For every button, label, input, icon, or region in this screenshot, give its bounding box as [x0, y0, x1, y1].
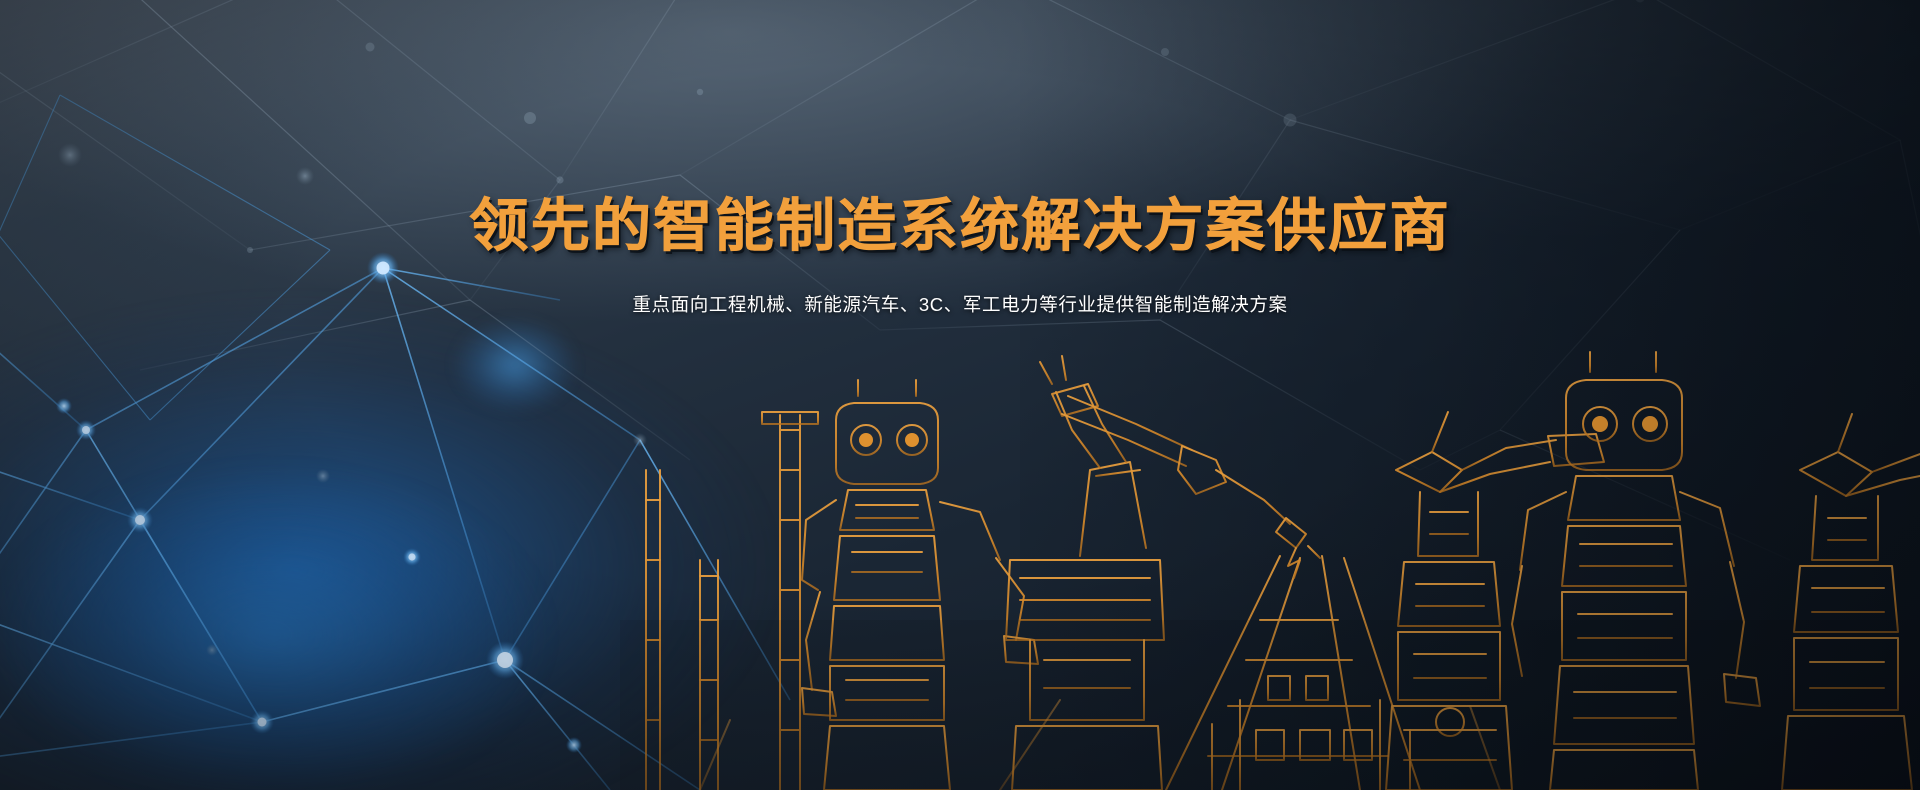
page-subtitle: 重点面向工程机械、新能源汽车、3C、军工电力等行业提供智能制造解决方案 — [0, 292, 1920, 318]
hero-banner: 领先的智能制造系统解决方案供应商 重点面向工程机械、新能源汽车、3C、军工电力等… — [0, 0, 1920, 790]
page-title: 领先的智能制造系统解决方案供应商 — [0, 196, 1920, 256]
banner-content: 领先的智能制造系统解决方案供应商 重点面向工程机械、新能源汽车、3C、军工电力等… — [0, 196, 1920, 318]
background-vignette — [0, 0, 1920, 790]
